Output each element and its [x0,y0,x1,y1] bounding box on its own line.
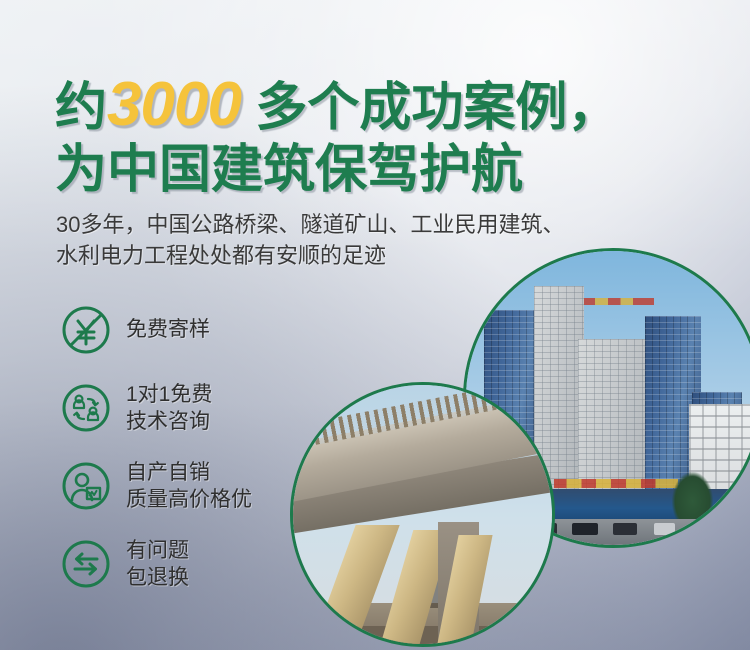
building-upper-signage [584,298,655,305]
bridge-viaduct-photo [290,382,555,647]
headline-suffix: 多个成功案例， [241,79,619,137]
feature-label: 免费寄样 [126,316,210,343]
subtitle-line-1: 30多年，中国公路桥梁、隧道矿山、工业民用建筑、 [56,209,716,240]
promo-banner: 约3000 多个成功案例， 为中国建筑保驾护航 30多年，中国公路桥梁、隧道矿山… [0,0,750,650]
parked-car [613,523,637,535]
feature-label-line: 自产自销 [126,459,252,486]
feature-item-self-produce: 自产自销 质量高价格优 [60,456,252,516]
building-signage [554,479,677,488]
subtitle: 30多年，中国公路桥梁、隧道矿山、工业民用建筑、 水利电力工程处处都有安顺的足迹 [56,209,716,271]
feature-label-line: 技术咨询 [126,408,212,435]
headline-prefix: 约 [55,79,107,137]
feature-item-free-sample: 免费寄样 [60,300,252,360]
feature-label: 自产自销 质量高价格优 [126,459,252,514]
feature-label-line: 质量高价格优 [126,486,252,513]
feature-label-line: 免费寄样 [126,316,210,343]
feature-list: 免费寄样 1对1免费 技术咨询 [60,300,252,612]
feature-label: 有问题 包退换 [126,537,189,592]
headline-line-2: 为中国建筑保驾护航 [55,144,715,196]
feature-label-line: 1对1免费 [126,381,212,408]
parked-car [572,523,598,535]
headline-number: 3000 [107,70,241,139]
feature-item-consult: 1对1免费 技术咨询 [60,378,252,438]
self-produce-sell-icon [60,460,112,512]
feature-label: 1对1免费 技术咨询 [126,381,212,436]
one-on-one-consult-icon [60,382,112,434]
feature-label-line: 有问题 [126,537,189,564]
feature-item-return-exchange: 有问题 包退换 [60,534,252,594]
parked-car [654,523,675,535]
return-exchange-icon [60,538,112,590]
no-fee-yuan-icon [60,304,112,356]
headline: 约3000 多个成功案例， 为中国建筑保驾护航 [55,74,715,196]
feature-label-line: 包退换 [126,564,189,591]
subtitle-line-2: 水利电力工程处处都有安顺的足迹 [56,240,716,271]
building-tree [672,472,713,522]
